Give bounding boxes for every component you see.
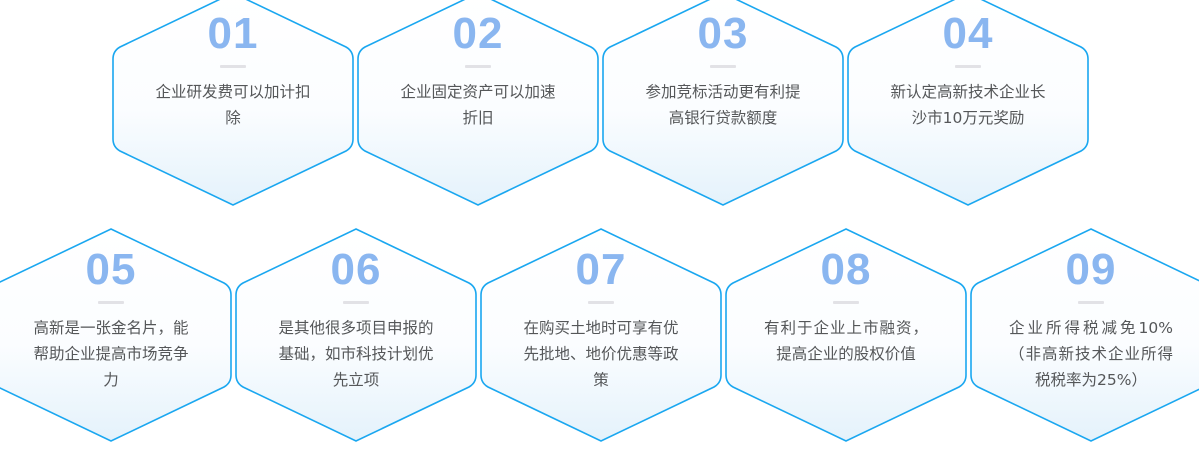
hexagon-divider-01 xyxy=(220,65,246,68)
hexagon-divider-04 xyxy=(955,65,981,68)
hexagon-divider-07 xyxy=(588,301,614,304)
hexagon-card-02[interactable]: 02 企业固定资产可以加速折旧 xyxy=(355,0,601,208)
hexagon-divider-02 xyxy=(465,65,491,68)
hexagon-number-09: 09 xyxy=(1066,248,1117,292)
hexagon-text-01: 企业研发费可以加计扣除 xyxy=(151,79,315,131)
hexagon-card-05[interactable]: 05 高新是一张金名片，能帮助企业提高市场竞争力 xyxy=(0,226,234,444)
hexagon-card-09[interactable]: 09 企业所得税减免10%（非高新技术企业所得税税率为25%） xyxy=(968,226,1199,444)
hexagon-text-07: 在购买土地时可享有优先批地、地价优惠等政策 xyxy=(519,315,683,393)
hexagon-number-08: 08 xyxy=(821,248,872,292)
hexagon-body-04: 04 新认定高新技术企业长沙市10万元奖励 xyxy=(845,0,1091,208)
hexagon-body-03: 03 参加竞标活动更有利提高银行贷款额度 xyxy=(600,0,846,208)
hexagon-body-01: 01 企业研发费可以加计扣除 xyxy=(110,0,356,208)
hexagon-divider-06 xyxy=(343,301,369,304)
hexagon-infographic: 01 企业研发费可以加计扣除 02 企业固定资产可以加速折旧 03 参加竞标活动… xyxy=(0,0,1199,454)
hexagon-body-06: 06 是其他很多项目申报的基础，如市科技计划优先立项 xyxy=(233,226,479,444)
hexagon-number-06: 06 xyxy=(331,248,382,292)
hexagon-number-04: 04 xyxy=(943,12,994,56)
hexagon-number-03: 03 xyxy=(698,12,749,56)
hexagon-text-03: 参加竞标活动更有利提高银行贷款额度 xyxy=(641,79,805,131)
hexagon-body-05: 05 高新是一张金名片，能帮助企业提高市场竞争力 xyxy=(0,226,234,444)
hexagon-card-07[interactable]: 07 在购买土地时可享有优先批地、地价优惠等政策 xyxy=(478,226,724,444)
hexagon-divider-05 xyxy=(98,301,124,304)
hexagon-divider-03 xyxy=(710,65,736,68)
hexagon-divider-09 xyxy=(1078,301,1104,304)
hexagon-text-05: 高新是一张金名片，能帮助企业提高市场竞争力 xyxy=(29,315,193,393)
hexagon-card-04[interactable]: 04 新认定高新技术企业长沙市10万元奖励 xyxy=(845,0,1091,208)
hexagon-body-02: 02 企业固定资产可以加速折旧 xyxy=(355,0,601,208)
hexagon-number-05: 05 xyxy=(86,248,137,292)
hexagon-body-08: 08 有利于企业上市融资，提高企业的股权价值 xyxy=(723,226,969,444)
hexagon-card-01[interactable]: 01 企业研发费可以加计扣除 xyxy=(110,0,356,208)
hexagon-number-02: 02 xyxy=(453,12,504,56)
hexagon-divider-08 xyxy=(833,301,859,304)
hexagon-text-04: 新认定高新技术企业长沙市10万元奖励 xyxy=(886,79,1050,131)
hexagon-text-08: 有利于企业上市融资，提高企业的股权价值 xyxy=(764,315,928,367)
hexagon-body-09: 09 企业所得税减免10%（非高新技术企业所得税税率为25%） xyxy=(968,226,1199,444)
hexagon-text-06: 是其他很多项目申报的基础，如市科技计划优先立项 xyxy=(274,315,438,393)
hexagon-text-09: 企业所得税减免10%（非高新技术企业所得税税率为25%） xyxy=(1009,315,1173,393)
hexagon-card-08[interactable]: 08 有利于企业上市融资，提高企业的股权价值 xyxy=(723,226,969,444)
hexagon-number-07: 07 xyxy=(576,248,627,292)
hexagon-card-03[interactable]: 03 参加竞标活动更有利提高银行贷款额度 xyxy=(600,0,846,208)
hexagon-number-01: 01 xyxy=(208,12,259,56)
hexagon-body-07: 07 在购买土地时可享有优先批地、地价优惠等政策 xyxy=(478,226,724,444)
hexagon-text-02: 企业固定资产可以加速折旧 xyxy=(396,79,560,131)
hexagon-card-06[interactable]: 06 是其他很多项目申报的基础，如市科技计划优先立项 xyxy=(233,226,479,444)
